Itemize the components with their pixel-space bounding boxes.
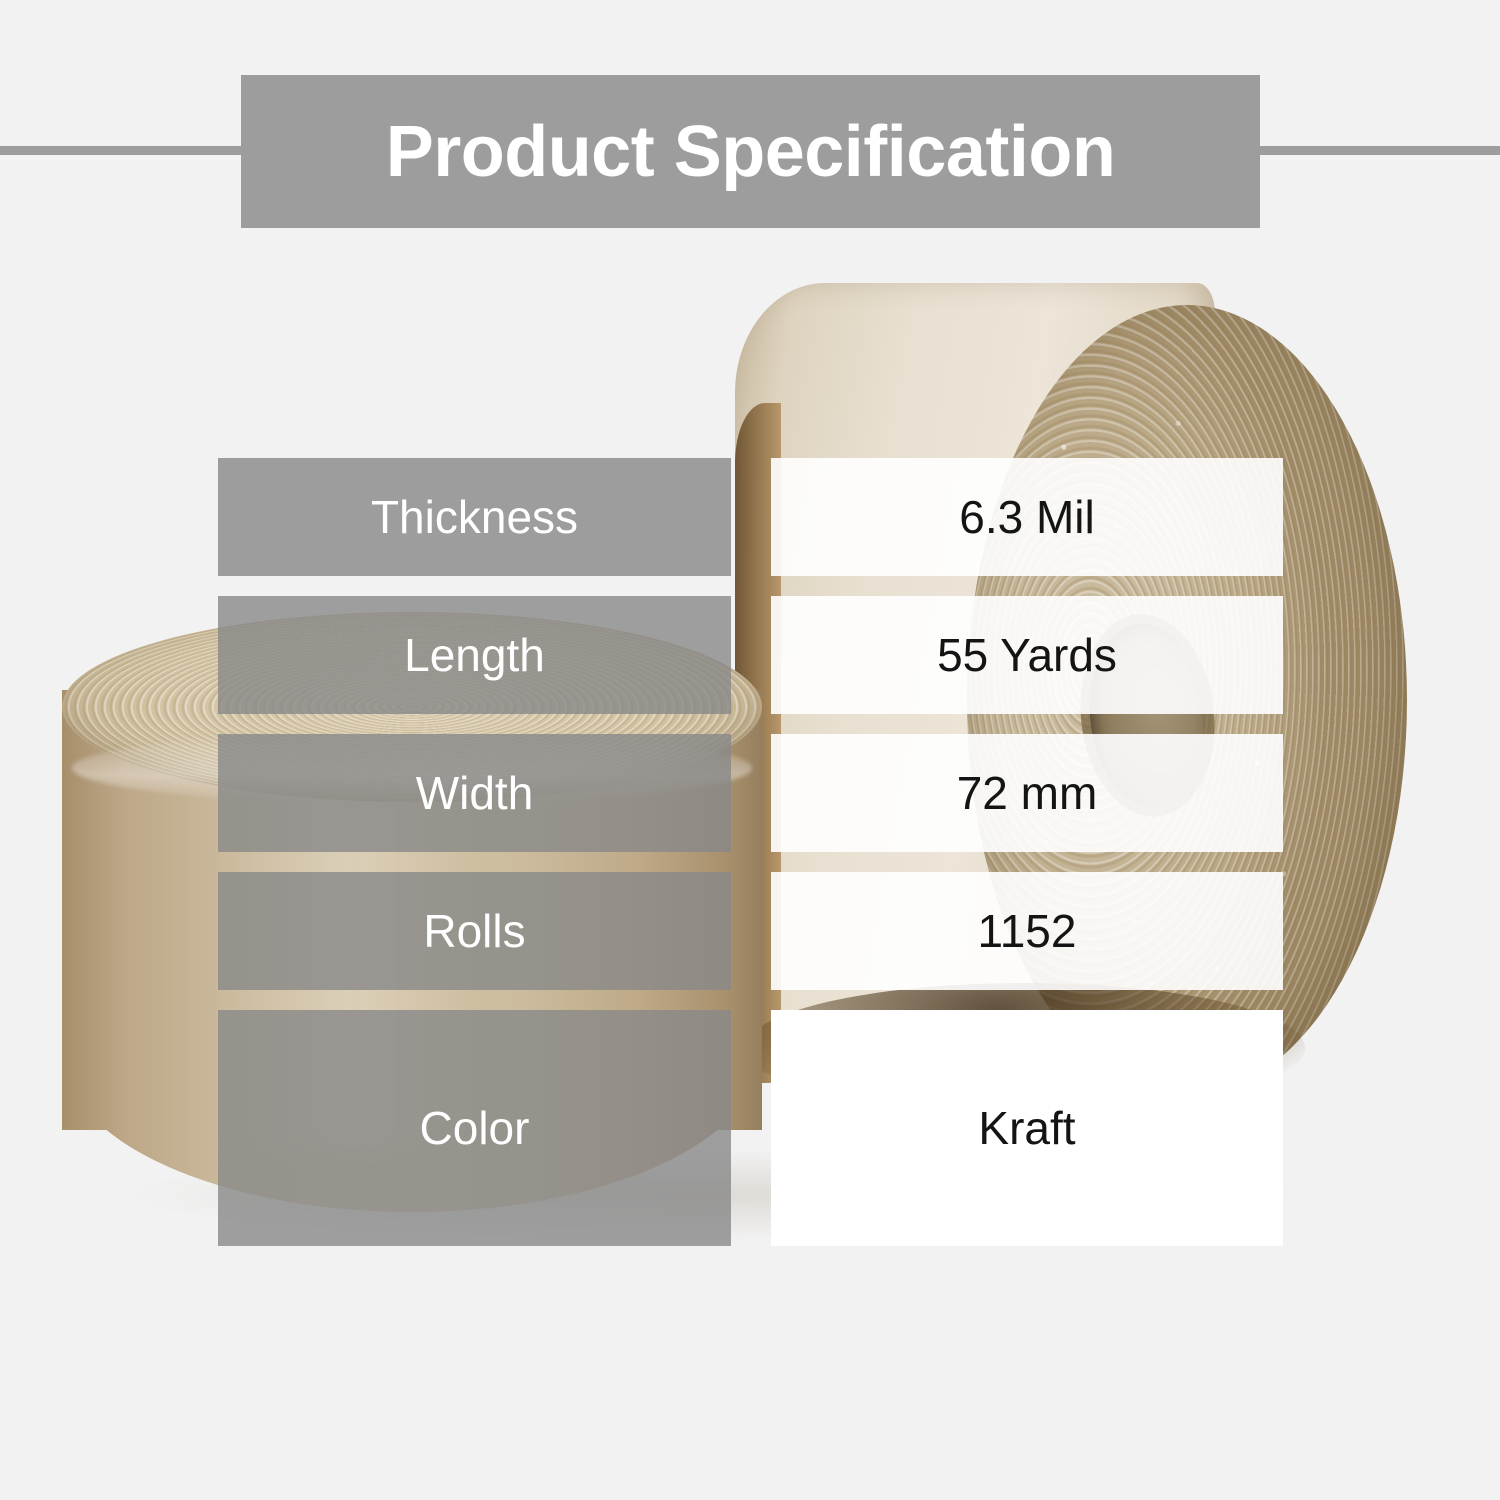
spec-label-text: Length — [404, 632, 545, 678]
spec-value-text: Kraft — [978, 1105, 1075, 1151]
spec-label-text: Thickness — [371, 494, 578, 540]
table-row: Color Kraft — [0, 1010, 1500, 1246]
spec-value-width: 72 mm — [771, 734, 1283, 852]
spec-value-color: Kraft — [771, 1010, 1283, 1246]
table-row: Width 72 mm — [0, 734, 1500, 852]
spec-label-text: Rolls — [423, 908, 525, 954]
spec-value-text: 6.3 Mil — [959, 494, 1094, 540]
table-row: Rolls 1152 — [0, 872, 1500, 990]
spec-label-text: Width — [416, 770, 534, 816]
spec-value-text: 55 Yards — [937, 632, 1117, 678]
spec-label-text: Color — [420, 1105, 530, 1151]
spec-label-rolls: Rolls — [218, 872, 731, 990]
spec-value-text: 72 mm — [957, 770, 1098, 816]
spec-label-thickness: Thickness — [218, 458, 731, 576]
spec-value-text: 1152 — [978, 908, 1077, 954]
spec-value-length: 55 Yards — [771, 596, 1283, 714]
specification-table: Thickness 6.3 Mil Length 55 Yards Width … — [0, 0, 1500, 1500]
table-row: Length 55 Yards — [0, 596, 1500, 714]
table-row: Thickness 6.3 Mil — [0, 458, 1500, 576]
spec-label-length: Length — [218, 596, 731, 714]
spec-value-thickness: 6.3 Mil — [771, 458, 1283, 576]
spec-value-rolls: 1152 — [771, 872, 1283, 990]
spec-label-width: Width — [218, 734, 731, 852]
spec-label-color: Color — [218, 1010, 731, 1246]
